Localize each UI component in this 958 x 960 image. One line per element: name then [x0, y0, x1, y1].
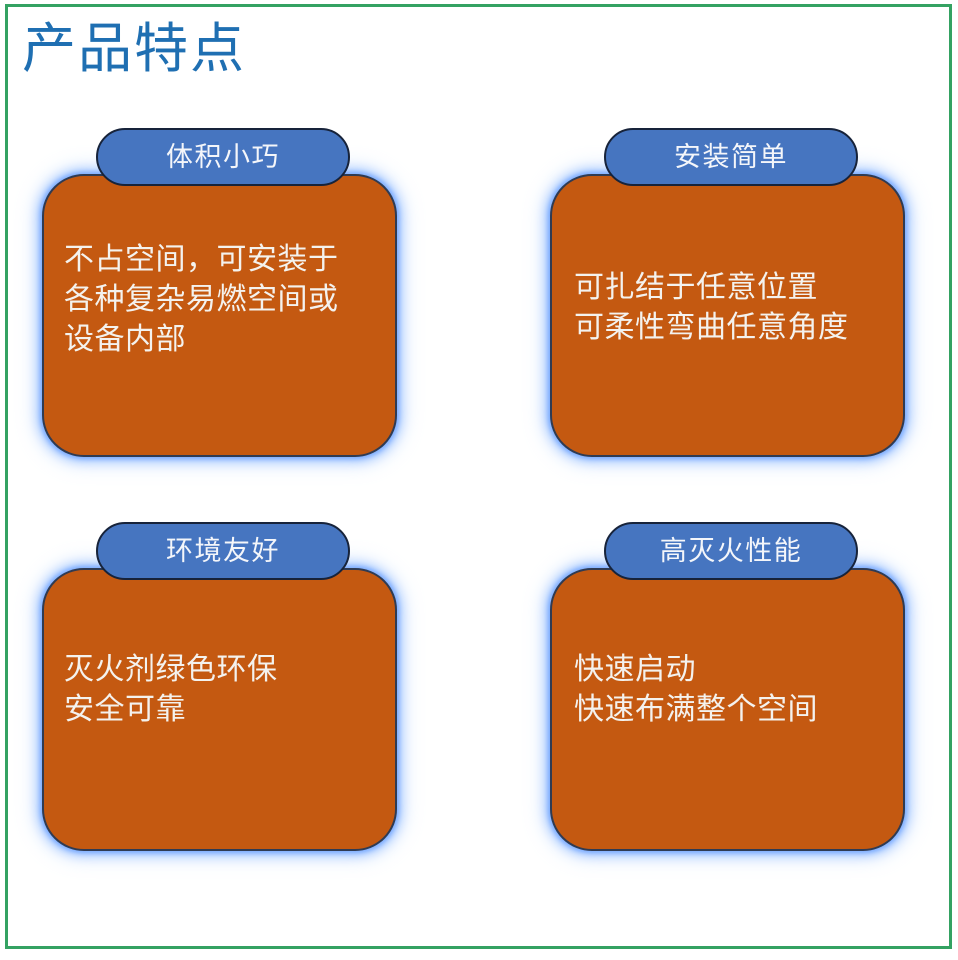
feature-card-text: 不占空间，可安装于 各种复杂易燃空间或 设备内部 [64, 240, 387, 360]
feature-card-header-label: 高灭火性能 [660, 538, 803, 565]
feature-card-header-label: 环境友好 [166, 538, 280, 565]
feature-card-header-label: 安装简单 [674, 144, 788, 171]
feature-card-header-label: 体积小巧 [166, 144, 280, 171]
page-title: 产品特点 [22, 18, 246, 80]
feature-card-installation[interactable]: 安装简单 可扎结于任意位置 可柔性弯曲任意角度 [540, 128, 915, 458]
feature-card-eco-friendly[interactable]: 环境友好 灭火剂绿色环保 安全可靠 [32, 522, 407, 852]
feature-card-header[interactable]: 体积小巧 [96, 128, 350, 186]
feature-card-text: 快速启动 快速布满整个空间 [574, 650, 895, 730]
feature-card-header[interactable]: 高灭火性能 [604, 522, 858, 580]
feature-card-text: 灭火剂绿色环保 安全可靠 [64, 650, 387, 730]
feature-card-volume[interactable]: 体积小巧 不占空间，可安装于 各种复杂易燃空间或 设备内部 [32, 128, 407, 458]
feature-card-extinguishing[interactable]: 高灭火性能 快速启动 快速布满整个空间 [540, 522, 915, 852]
feature-card-text: 可扎结于任意位置 可柔性弯曲任意角度 [574, 268, 895, 348]
feature-card-header[interactable]: 环境友好 [96, 522, 350, 580]
feature-card-header[interactable]: 安装简单 [604, 128, 858, 186]
slide-canvas: 产品特点 体积小巧 不占空间，可安装于 各种复杂易燃空间或 设备内部 安装简单 … [0, 0, 958, 960]
